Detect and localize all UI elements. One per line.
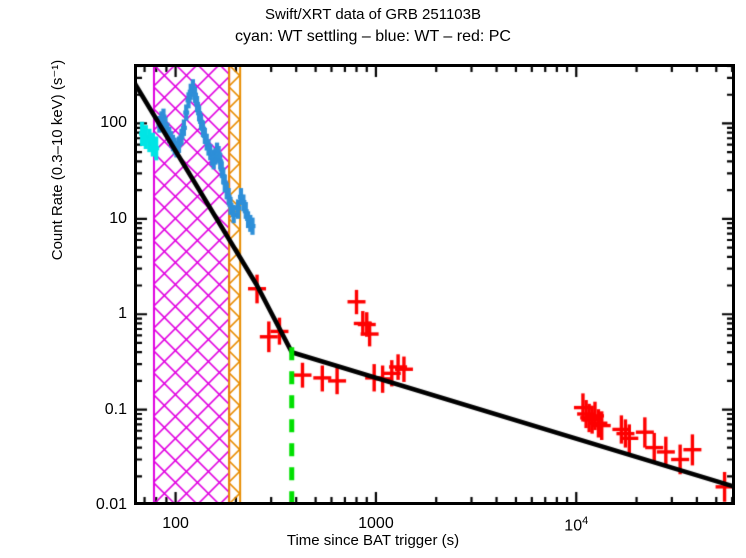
plot-frame <box>134 64 735 505</box>
y-tick-label-1: 10 <box>72 210 127 228</box>
y-tick-label-0: 100 <box>72 114 127 132</box>
y-tick-label-3: 0.1 <box>72 401 127 419</box>
chart-title: Swift/XRT data of GRB 251103B <box>0 6 746 23</box>
x-tick-label-0: 100 <box>162 515 189 533</box>
y-tick-label-4: 0.01 <box>72 496 127 514</box>
x-axis-label: Time since BAT trigger (s) <box>0 532 746 549</box>
x-tick-label-1: 1000 <box>358 515 394 533</box>
y-axis-label: Count Rate (0.3–10 keV) (s⁻¹) <box>48 10 66 310</box>
chart-subtitle: cyan: WT settling – blue: WT – red: PC <box>0 28 746 46</box>
y-axis-label-wrapper: Count Rate (0.3–10 keV) (s⁻¹) <box>48 10 68 310</box>
plot-area <box>134 64 735 505</box>
y-tick-label-2: 1 <box>72 305 127 323</box>
